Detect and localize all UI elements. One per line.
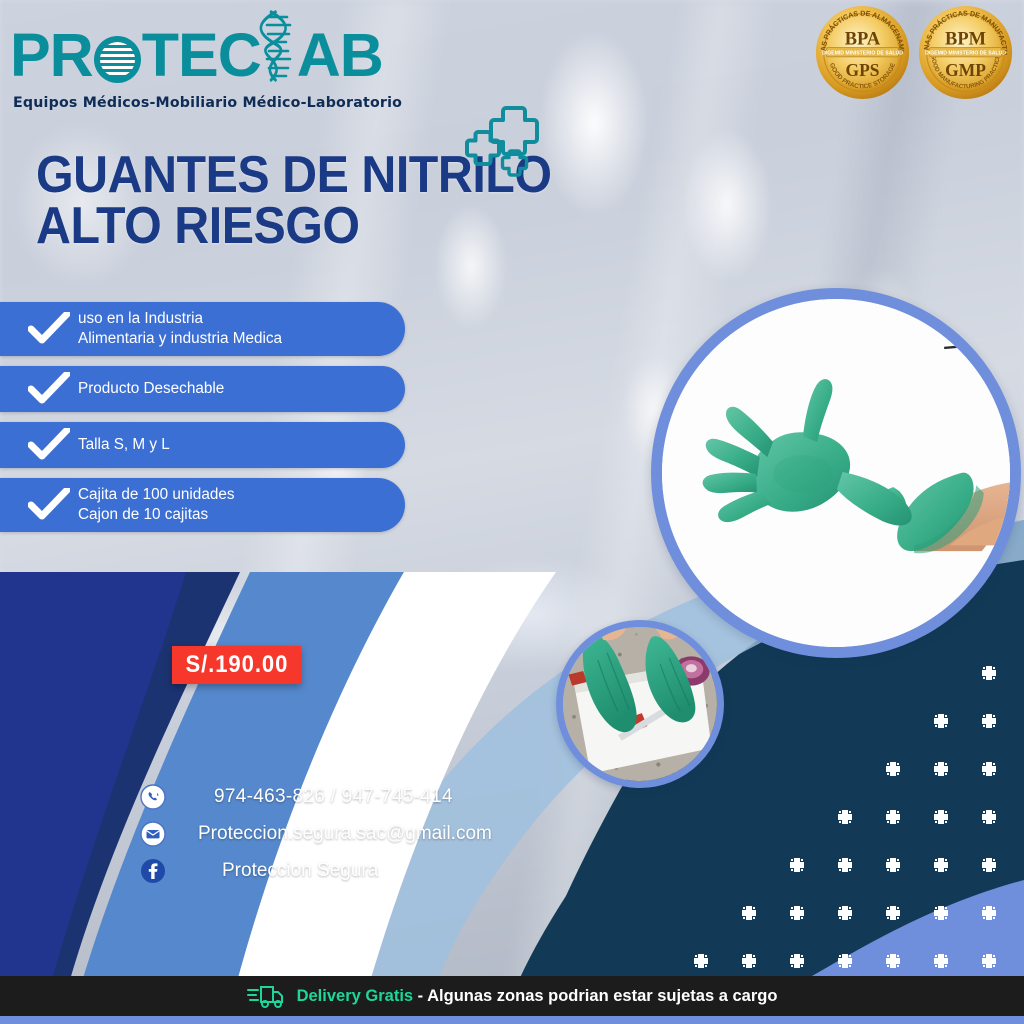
logo-text-tec: TEC (142, 25, 261, 86)
delivery-truck-icon (247, 983, 287, 1009)
cross-medium-icon (467, 132, 499, 164)
contact-facebook[interactable]: Proteccion Segura (222, 860, 378, 882)
contact-info: 974-463-826 / 947-745-414 Proteccion.seg… (140, 780, 560, 891)
feature-text-line-1: Producto Desechable (78, 379, 224, 399)
feature-item: Talla S, M y L (0, 422, 405, 468)
facebook-icon[interactable] (140, 858, 166, 884)
contact-row-email: Proteccion.segura.sac@gmail.com (140, 817, 560, 851)
feature-list: uso en la Industria Alimentaria y indust… (0, 302, 405, 542)
dna-helix-icon (259, 9, 299, 83)
svg-text:GPS: GPS (846, 60, 880, 80)
headline-line-2: ALTO RIESGO (36, 201, 552, 252)
check-icon (28, 312, 70, 346)
footer-bottom-strip (0, 1016, 1024, 1024)
logo-text-ab: AB (297, 25, 383, 86)
delivery-footer-bar: Delivery Gratis - Algunas zonas podrian … (0, 976, 1024, 1016)
contact-email[interactable]: Proteccion.segura.sac@gmail.com (198, 823, 492, 845)
delivery-highlight: Delivery Gratis (297, 987, 413, 1005)
phone-icon[interactable] (140, 784, 166, 810)
badge-bpa-gps: BUENAS PRÁCTICAS DE ALMACENAMIENTO GOOD … (814, 4, 911, 101)
logo-text-pr: PR (10, 25, 93, 86)
cross-pattern-decoration (694, 646, 1024, 976)
svg-text:BPA: BPA (845, 29, 881, 49)
contact-row-facebook: Proteccion Segura (140, 854, 560, 888)
feature-item: Producto Desechable (0, 366, 405, 412)
badge-bpm-gmp: BUENAS PRÁCTICAS DE MANUFACTURA GOOD MAN… (917, 4, 1014, 101)
delivery-note: - Algunas zonas podrian estar sujetas a … (413, 987, 777, 1005)
logo-wordmark: PR TEC (10, 18, 402, 92)
contact-phone[interactable]: 974-463-826 / 947-745-414 (214, 786, 453, 808)
brand-logo: PR TEC (10, 18, 402, 111)
logo-tagline: Equipos Médicos-Mobiliario Médico-Labora… (13, 95, 402, 111)
feature-text-line-2: Cajon de 10 cajitas (78, 505, 235, 525)
check-icon (28, 372, 70, 406)
svg-text:BPM: BPM (945, 29, 986, 49)
feature-text-line-1: Talla S, M y L (78, 435, 170, 455)
price-tag: S/.190.00 (172, 646, 301, 684)
svg-text:DIGEMID MINISTERIO DE SALUD: DIGEMID MINISTERIO DE SALUD (925, 50, 1006, 56)
check-icon (28, 488, 70, 522)
feature-text-line-1: uso en la Industria (78, 309, 282, 329)
feature-item: uso en la Industria Alimentaria y indust… (0, 302, 405, 356)
contact-row-phone: 974-463-826 / 947-745-414 (140, 780, 560, 814)
svg-text:GMP: GMP (945, 60, 986, 80)
promotional-poster: PR TEC (0, 0, 1024, 1024)
medical-cross-decoration (458, 98, 568, 183)
svg-text:DIGEMID MINISTERIO DE SALUD: DIGEMID MINISTERIO DE SALUD (822, 50, 903, 56)
feature-text-line-2: Alimentaria y industria Medica (78, 329, 282, 349)
product-photo-main (651, 288, 1021, 658)
gloves-hands-illustration (662, 299, 1010, 647)
certification-badges: BUENAS PRÁCTICAS DE ALMACENAMIENTO GOOD … (814, 4, 1014, 101)
logo-striped-o-icon (94, 36, 141, 83)
envelope-icon[interactable] (140, 821, 166, 847)
check-icon (28, 428, 70, 462)
feature-text-line-1: Cajita de 100 unidades (78, 485, 235, 505)
price-value: S/.190.00 (185, 651, 288, 679)
feature-item: Cajita de 100 unidades Cajon de 10 cajit… (0, 478, 405, 532)
